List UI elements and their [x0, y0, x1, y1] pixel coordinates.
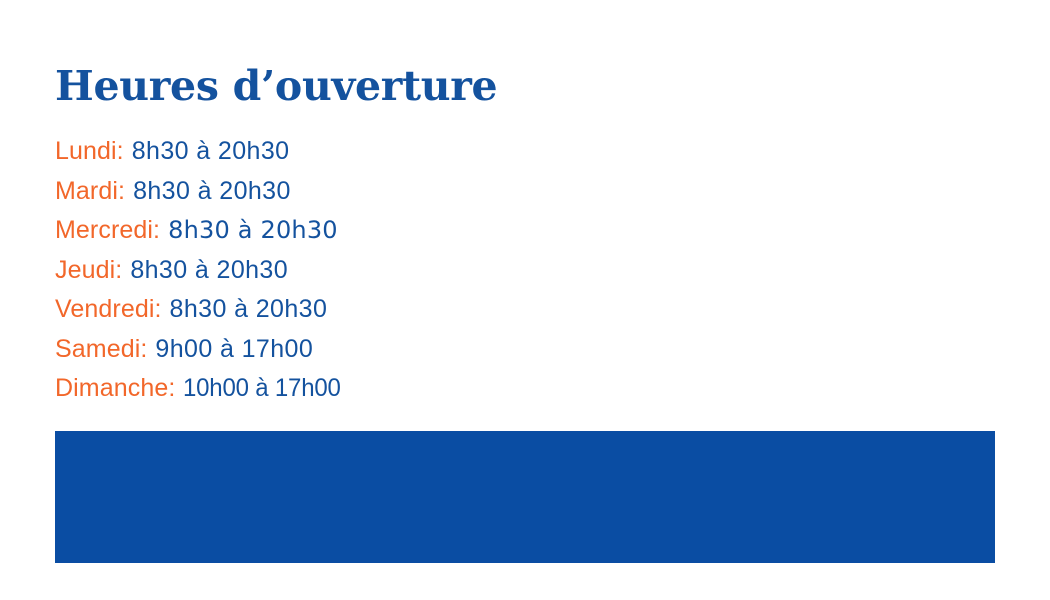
day-time: 8h30 à 20h30: [170, 295, 328, 323]
day-time: 8h30 à 20h30: [132, 137, 290, 165]
day-label: Dimanche:: [55, 374, 175, 402]
list-item: Samedi:9h00 à 17h00: [55, 330, 985, 370]
day-label: Jeudi:: [55, 256, 122, 284]
day-time: 8h30 à 20h30: [130, 256, 288, 284]
day-label: Vendredi:: [55, 295, 162, 323]
day-label: Mardi:: [55, 177, 125, 205]
day-label: Mercredi:: [55, 216, 160, 244]
list-item: Mardi:8h30 à 20h30: [55, 172, 985, 212]
day-time: 10h00 à 17h00: [183, 369, 341, 409]
list-item: Lundi:8h30 à 20h30: [55, 132, 985, 172]
day-time: 8h30 à 20h30: [168, 216, 338, 244]
list-item: Vendredi:8h30 à 20h30: [55, 290, 985, 330]
day-time: 9h00 à 17h00: [155, 335, 313, 363]
day-label: Samedi:: [55, 335, 147, 363]
day-time: 8h30 à 20h30: [133, 177, 291, 205]
list-item: Dimanche:10h00 à 17h00: [55, 369, 985, 409]
day-label: Lundi:: [55, 137, 124, 165]
list-item: Jeudi:8h30 à 20h30: [55, 251, 985, 291]
list-item: Mercredi:8h30 à 20h30: [55, 211, 985, 251]
slide-canvas: Heures d’ouverture Lundi:8h30 à 20h30 Ma…: [0, 0, 1050, 600]
opening-hours-list: Lundi:8h30 à 20h30 Mardi:8h30 à 20h30 Me…: [55, 132, 985, 409]
page-title: Heures d’ouverture: [55, 62, 497, 110]
footer-band: [55, 431, 995, 563]
